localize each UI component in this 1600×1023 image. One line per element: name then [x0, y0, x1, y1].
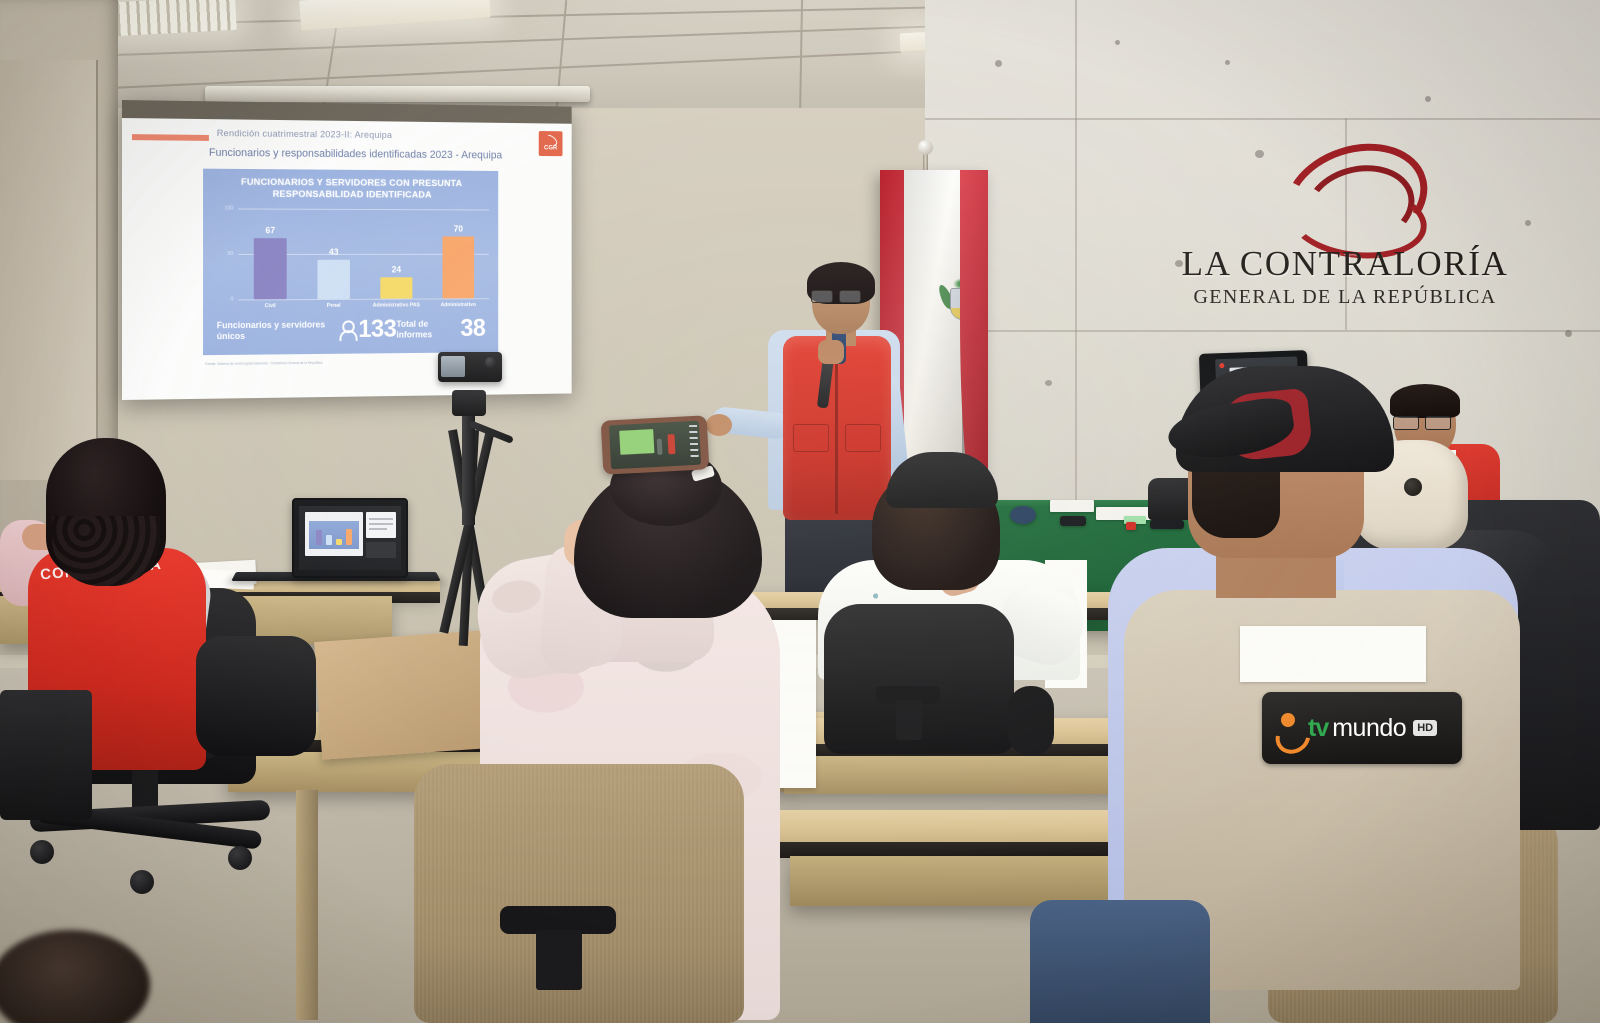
- xlabel-administrativo: Administrativo: [427, 302, 489, 309]
- bar-group-penal: 43: [302, 209, 365, 299]
- presenter-vest-pocket-left: [793, 424, 829, 452]
- slide-subtitle: Funcionarios y responsabilidades identif…: [209, 147, 502, 162]
- video-camera[interactable]: [438, 352, 502, 382]
- chair-left-caster-3: [228, 846, 252, 870]
- desk-front-right-apron: [784, 756, 1156, 794]
- bar-civil: [254, 239, 287, 300]
- presenter-left-hand: [706, 414, 732, 436]
- chair-center-stem: [896, 700, 922, 740]
- presentation-slide: Rendición cuatrimestral 2023-II: Arequip…: [122, 118, 572, 400]
- stat-label-informes: Total de informes: [396, 319, 453, 340]
- stat-total-informes: Total de informes 38: [396, 315, 485, 344]
- operator-vest-paper: [1240, 626, 1426, 682]
- stat-value-informes: 38: [460, 315, 485, 343]
- chart-title: FUNCIONARIOS Y SERVIDORES CON PRESUNTA R…: [203, 177, 498, 202]
- laptop-chart-preview: [309, 521, 359, 549]
- contraloria-swoosh-logo: [1265, 140, 1435, 248]
- desk-front-left-leg: [296, 790, 318, 1020]
- xlabel-civil: Civil: [238, 303, 302, 310]
- table-phone-2: [1150, 520, 1184, 529]
- laptop-notes-pane: [366, 512, 396, 538]
- stat-funcionarios-unicos: Funcionarios y servidores únicos 133: [217, 315, 397, 345]
- smartphone-recording[interactable]: [601, 415, 710, 474]
- chart-panel: FUNCIONARIOS Y SERVIDORES CON PRESUNTA R…: [203, 169, 498, 356]
- presenter-vest-zipper: [835, 344, 838, 514]
- cgr-logo: CGR: [539, 131, 563, 156]
- chair-left-caster-1: [30, 840, 54, 864]
- attendee-left-hair: [46, 438, 166, 578]
- bar-value-civil: 67: [265, 226, 275, 236]
- phone-preview-projection: [619, 429, 654, 455]
- laptop[interactable]: [292, 498, 408, 578]
- bar-value-penal: 43: [329, 248, 339, 258]
- bar-group-administrativo-pas: 24: [365, 209, 427, 299]
- left-wall-panel: [0, 60, 98, 480]
- bar-value-administrativo-pas: 24: [392, 265, 401, 275]
- conference-room-photo: LA CONTRALORÍA GENERAL DE LA REPÚBLICA R…: [0, 0, 1600, 1023]
- phone-preview-presenter: [667, 434, 675, 454]
- chair-left-caster-2: [130, 870, 154, 894]
- sign-subtitle: GENERAL DE LA REPÚBLICA: [1150, 286, 1540, 309]
- flag-pole-finial: [918, 140, 933, 155]
- presenter-hand-holding-mic: [818, 340, 844, 364]
- hat-button: [1404, 478, 1422, 496]
- xlabel-penal: Penal: [302, 303, 365, 310]
- phone-camera-controls[interactable]: [689, 425, 699, 461]
- smartphone-screen: [609, 421, 701, 470]
- projector-screen-roller: [205, 86, 590, 102]
- badge-text-tv: tv: [1308, 714, 1328, 743]
- camera-lcd-screen: [441, 356, 465, 377]
- table-object-blue: [1010, 506, 1036, 524]
- bar-value-administrativo: 70: [454, 223, 463, 233]
- stat-label-funcionarios: Funcionarios y servidores únicos: [217, 320, 333, 341]
- press-badge-tvmundo: tv mundo HD: [1262, 692, 1462, 764]
- slide-footnote: Fuente: Sistema de control gubernamental…: [205, 361, 322, 366]
- chair-center-armrest: [1008, 686, 1054, 756]
- bar-penal: [317, 260, 349, 299]
- record-indicator-icon: [1219, 363, 1224, 368]
- ytick-100: 100: [224, 205, 233, 211]
- bar-group-administrativo: 70: [427, 209, 489, 298]
- ytick-50: 50: [227, 251, 233, 257]
- chart-bars: 67 43 24 70: [238, 208, 489, 299]
- camera-lens: [485, 357, 496, 368]
- bar-group-civil: 67: [238, 208, 302, 299]
- xlabel-administrativo-pas: Administrativo PAS: [365, 302, 427, 309]
- glasses-icon: [811, 290, 861, 302]
- table-paper-1: [1050, 500, 1094, 512]
- tripod-head: [452, 390, 486, 416]
- cardboard-box: [314, 630, 492, 760]
- bar-administrativo-pas: [380, 277, 412, 299]
- projection-screen: Rendición cuatrimestral 2023-II: Arequip…: [122, 100, 572, 400]
- table-phone-1: [1060, 516, 1086, 526]
- chart-plot-area: 100 50 0 67 43: [238, 208, 489, 299]
- cgr-logo-text: CGR: [544, 145, 557, 151]
- bar-administrativo: [442, 236, 474, 298]
- floor-bag-left: [0, 690, 92, 820]
- chair-left-secondary[interactable]: [196, 636, 316, 756]
- glasses-icon: [1393, 416, 1451, 429]
- badge-text-hd: HD: [1413, 720, 1437, 736]
- back-right-hair: [1390, 384, 1460, 418]
- stat-value-funcionarios: 133: [358, 315, 396, 344]
- chart-category-labels: Civil Penal Administrativo PAS Administr…: [238, 302, 489, 310]
- laptop-taskbar: [366, 542, 396, 558]
- slide-accent-bar: [132, 134, 209, 141]
- desk-bottom-apron: [790, 856, 1150, 906]
- laptop-display: [299, 506, 401, 570]
- phone-preview-figure-2: [657, 439, 663, 455]
- badge-text-mundo: mundo: [1332, 714, 1406, 743]
- ytick-0: 0: [230, 296, 233, 302]
- person-icon: [340, 320, 352, 339]
- laptop-slide-window: [305, 512, 363, 556]
- tvmundo-smile-icon: [1274, 711, 1304, 745]
- operator-jeans: [1030, 900, 1210, 1023]
- presenter-vest-pocket-right: [845, 424, 881, 452]
- chair-tan-stem: [536, 930, 582, 990]
- chart-summary-stats: Funcionarios y servidores únicos 133 Tot…: [217, 315, 486, 345]
- wall-sign-contraloria: LA CONTRALORÍA GENERAL DE LA REPÚBLICA: [1150, 140, 1540, 320]
- table-object-red: [1126, 522, 1136, 530]
- slide-kicker: Rendición cuatrimestral 2023-II: Arequip…: [217, 128, 392, 141]
- sign-title: LA CONTRALORÍA: [1150, 244, 1540, 284]
